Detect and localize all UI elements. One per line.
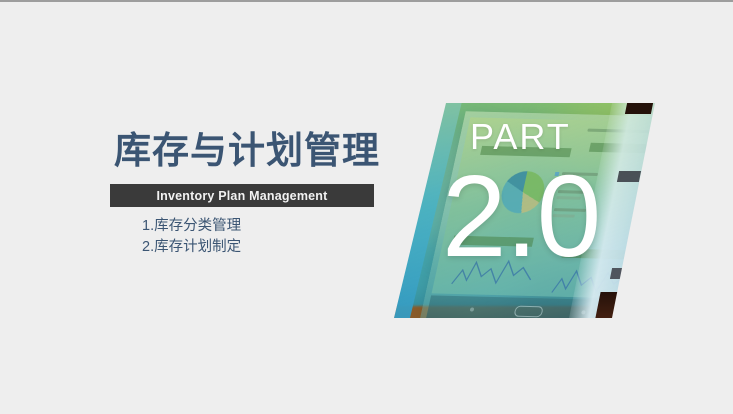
presentation-slide: 库存与计划管理 Inventory Plan Management 1.库存分类… <box>0 0 733 414</box>
list-item: 2.库存计划制定 <box>142 237 395 258</box>
tablet-softkey-icon <box>470 307 475 311</box>
photo-edge-accent <box>595 292 630 318</box>
tablet-home-button-icon <box>513 306 543 318</box>
slide-text-block: 库存与计划管理 Inventory Plan Management 1.库存分类… <box>110 128 395 258</box>
section-graphic: PART 2.0 <box>380 96 680 328</box>
subtitle-bar: Inventory Plan Management <box>110 184 374 207</box>
agenda-list: 1.库存分类管理 2.库存计划制定 <box>110 216 395 258</box>
list-item: 1.库存分类管理 <box>142 216 395 237</box>
photo-edge-accent <box>610 268 634 279</box>
parallelogram-photo-clip: PART 2.0 <box>380 96 680 328</box>
page-title: 库存与计划管理 <box>114 128 395 174</box>
slide-top-rule <box>0 0 733 2</box>
section-part-number: 2.0 <box>442 158 600 274</box>
subtitle-label: Inventory Plan Management <box>156 189 327 203</box>
photo-edge-accent <box>617 171 641 182</box>
photo-edge-accent <box>625 103 653 114</box>
